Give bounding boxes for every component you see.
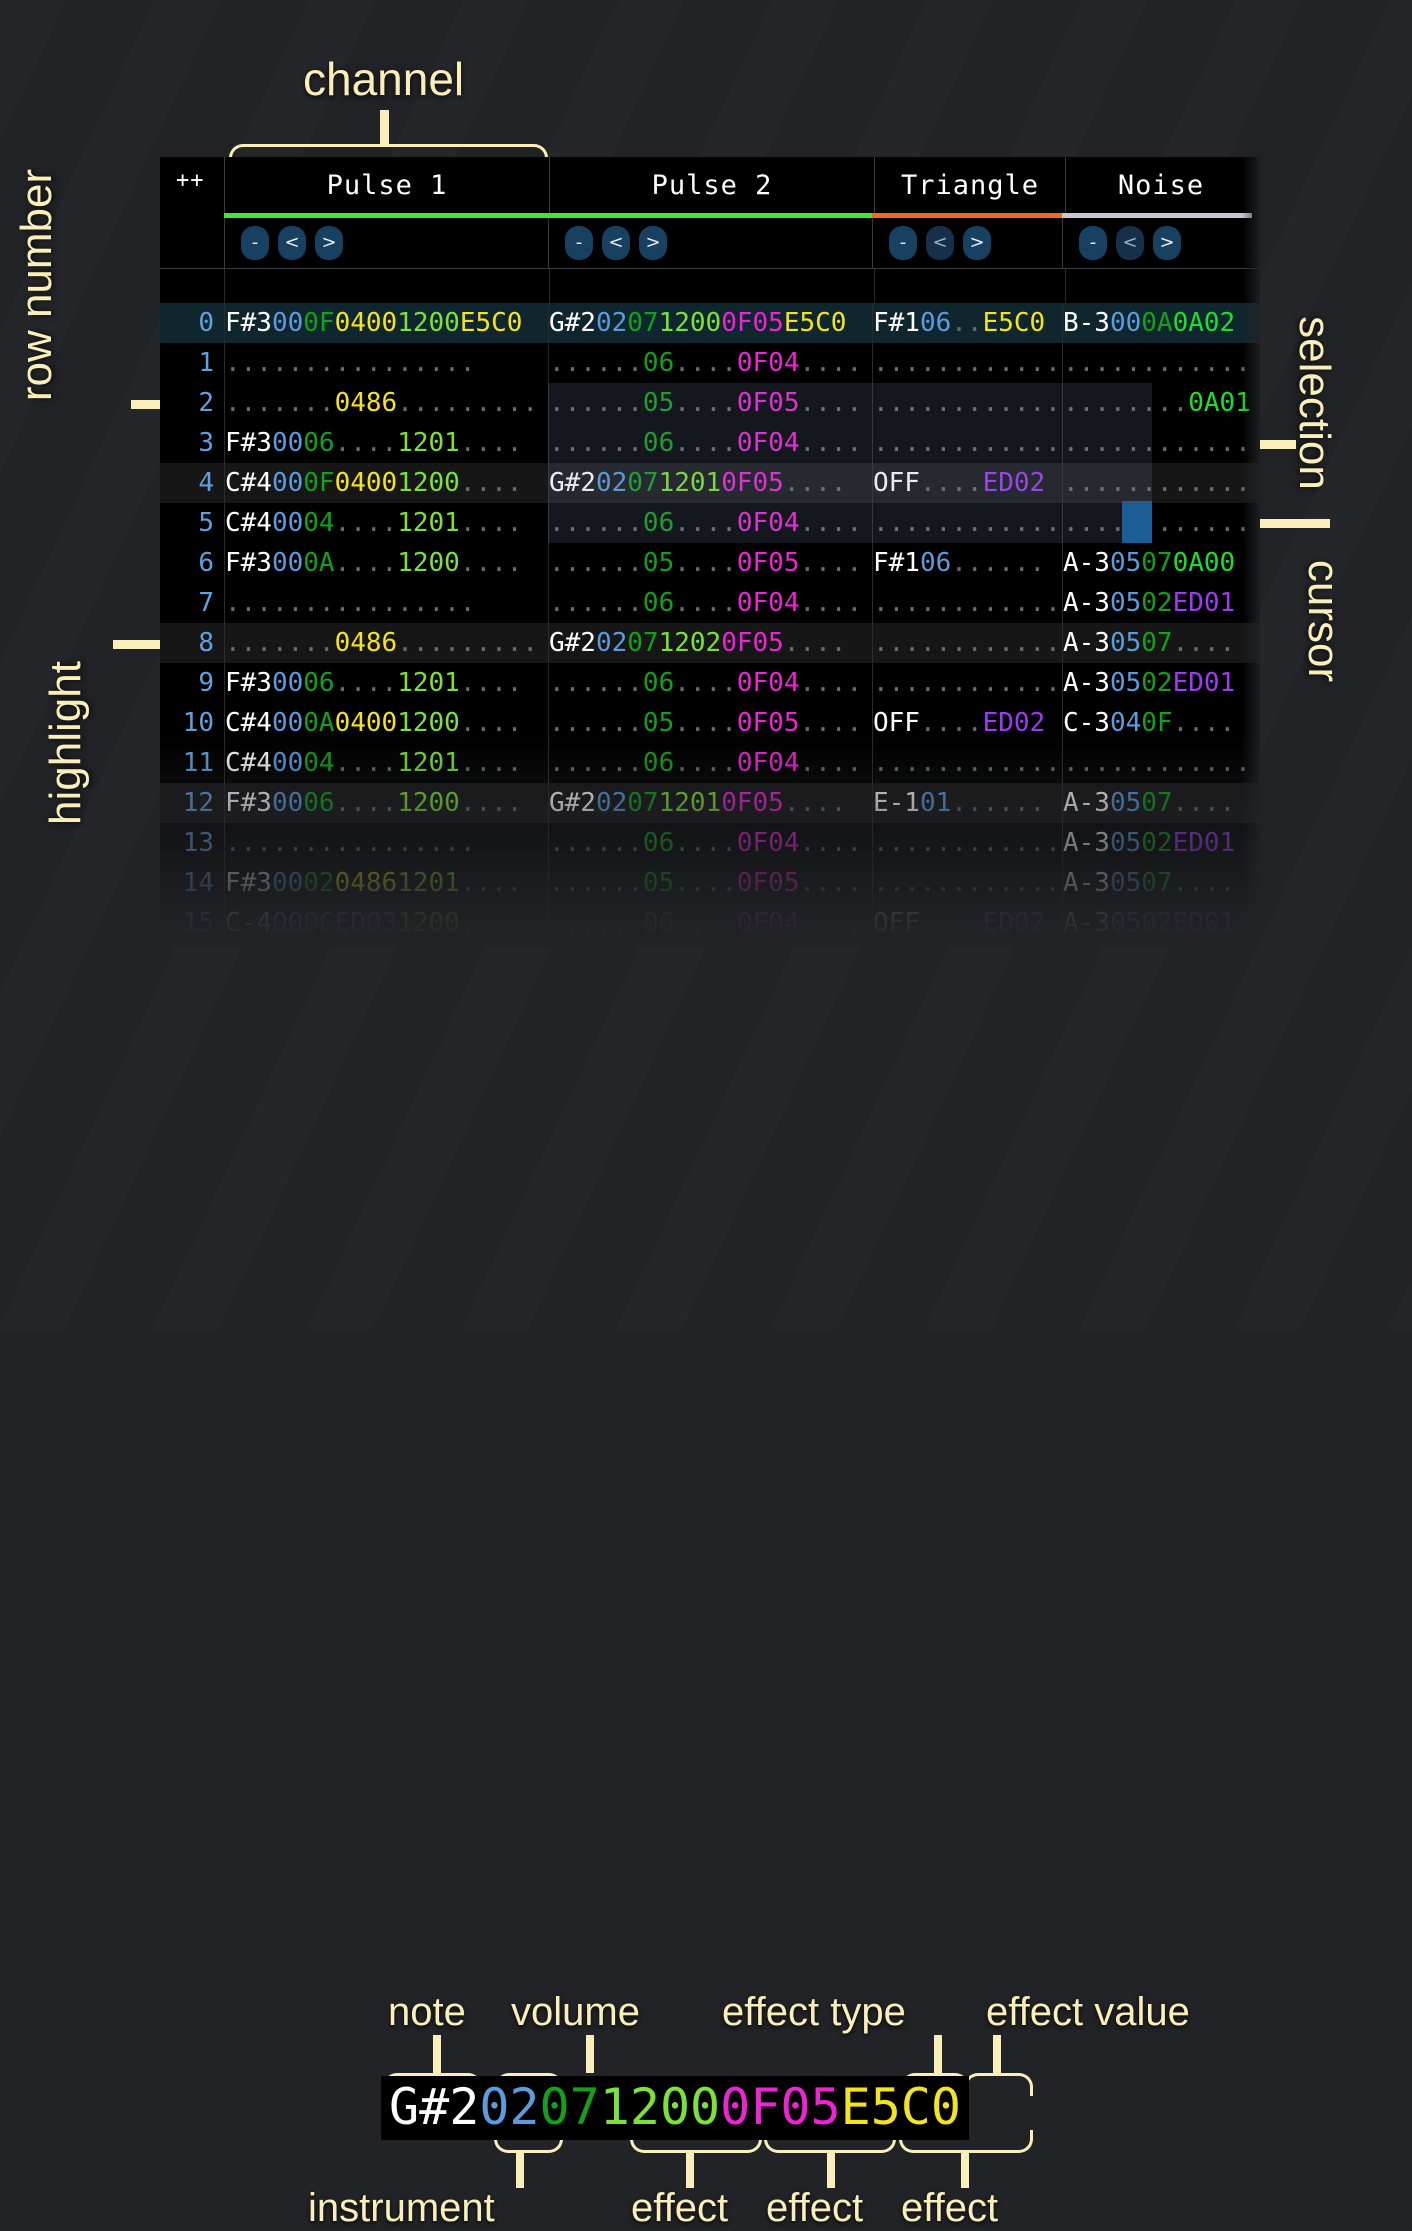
pattern-segment-empty: .... xyxy=(674,708,737,738)
pattern-cell-pulse-1[interactable]: F#30006....1200.... xyxy=(224,783,548,823)
pattern-segment-inst: 00 xyxy=(272,508,303,538)
pattern-cell-pulse-2[interactable]: G#2020712020F05.... xyxy=(548,623,872,663)
row-number: 0 xyxy=(160,308,224,338)
row-number: 12 xyxy=(160,788,224,818)
row-number: 8 xyxy=(160,628,224,658)
pattern-segment-empty: .... xyxy=(460,508,523,538)
pattern-cell-pulse-2[interactable]: ......06....0F04.... xyxy=(548,903,872,943)
pattern-row[interactable]: 13......................06....0F04......… xyxy=(160,823,1260,863)
pattern-cell-pulse-1[interactable]: .......0486......... xyxy=(224,623,548,663)
pattern-cell-pulse-1[interactable]: C#4000A04001200.... xyxy=(224,703,548,743)
pattern-segment-fxm: 0F05 xyxy=(737,708,800,738)
pattern-segment-vol: 02 xyxy=(1141,908,1172,938)
legend-leader-volume xyxy=(586,2035,594,2073)
pattern-segment-empty: ......... xyxy=(397,388,538,418)
legend-segment-fxy: E5C0 xyxy=(841,2078,961,2136)
pattern-cell-pulse-1[interactable]: C#4000F04001200.... xyxy=(224,463,548,503)
pattern-cell-noise[interactable]: A-30502ED01 xyxy=(1062,663,1252,703)
legend-leader-effect-3 xyxy=(961,2150,969,2188)
next-button-pulse-2[interactable]: > xyxy=(639,226,667,260)
pattern-cell-triangle[interactable]: OFF....ED02 xyxy=(872,463,1062,503)
pattern-row[interactable]: 3F#30006....1201..........06....0F04....… xyxy=(160,423,1260,463)
pattern-segment-note: F#3 xyxy=(225,668,272,698)
pattern-segment-empty: ...... xyxy=(549,748,643,778)
pattern-segment-vol: 05 xyxy=(643,708,674,738)
pattern-cell-triangle[interactable]: ............ xyxy=(872,503,1062,543)
pattern-segment-fxg: 1201 xyxy=(397,668,460,698)
pattern-cell-pulse-1[interactable]: C#40004....1201.... xyxy=(224,743,548,783)
pattern-segment-vol: 02 xyxy=(303,868,334,898)
pattern-segment-empty: ...... xyxy=(549,428,643,458)
pattern-cell-noise[interactable]: ............ xyxy=(1062,503,1252,543)
pattern-segment-inst: 00 xyxy=(272,428,303,458)
legend-segment-fxg: 1200 xyxy=(600,2078,720,2136)
pattern-cell-triangle[interactable]: F#106...... xyxy=(872,543,1062,583)
pattern-segment-note: OFF xyxy=(873,908,920,938)
legend-label-effect-2: effect xyxy=(766,2186,863,2231)
pattern-cell-triangle[interactable]: ............ xyxy=(872,423,1062,463)
legend-segment-fxm: 0F05 xyxy=(720,2078,840,2136)
pattern-segment-empty: .... xyxy=(799,548,862,578)
pattern-row[interactable]: 9F#30006....1201..........06....0F04....… xyxy=(160,663,1260,703)
pattern-cell-noise[interactable]: ............ xyxy=(1062,463,1252,503)
pattern-segment-note: F#3 xyxy=(225,428,272,458)
pattern-segment-note: C#4 xyxy=(225,508,272,538)
pattern-segment-empty: .... xyxy=(784,468,847,498)
pattern-segment-empty: ...... xyxy=(549,588,643,618)
prev-button-pulse-2[interactable]: < xyxy=(602,226,630,260)
pattern-cell-pulse-2[interactable]: G#2020712010F05.... xyxy=(548,463,872,503)
pattern-segment-empty: .... xyxy=(784,628,847,658)
pattern-segment-empty: ............ xyxy=(1063,428,1251,458)
pattern-row[interactable]: 2.......0486...............05....0F05...… xyxy=(160,383,1260,423)
pattern-cell-noise[interactable]: ........0A01 xyxy=(1062,383,1252,423)
pattern-segment-fxg: 1200 xyxy=(397,308,460,338)
pattern-cell-pulse-1[interactable]: ................ xyxy=(224,583,548,623)
pattern-segment-fxp: ED01 xyxy=(1173,668,1236,698)
pattern-cell-noise[interactable]: A-305070A00 xyxy=(1062,543,1252,583)
pattern-row[interactable]: 14F#3000204861201..........05....0F05...… xyxy=(160,863,1260,903)
pattern-segment-inst: 02 xyxy=(596,308,627,338)
pattern-segment-empty: ......... xyxy=(397,628,538,658)
pattern-segment-empty: ................ xyxy=(225,348,475,378)
row-number: 11 xyxy=(160,748,224,778)
pattern-segment-empty: .... xyxy=(674,548,737,578)
pattern-segment-vol: 0F xyxy=(1141,708,1172,738)
pattern-segment-vol: 04 xyxy=(303,748,334,778)
pattern-cell-noise[interactable]: A-30507.... xyxy=(1062,863,1252,903)
row-number: 6 xyxy=(160,548,224,578)
pattern-segment-vol: 02 xyxy=(1141,588,1172,618)
pattern-segment-empty: .... xyxy=(460,428,523,458)
row-number: 7 xyxy=(160,588,224,618)
pattern-segment-fxg: 1202 xyxy=(659,628,722,658)
legend-label-effect-type: effect type xyxy=(722,1990,906,2035)
pattern-cell-pulse-2[interactable]: ......05....0F05.... xyxy=(548,703,872,743)
pattern-segment-vol: 06 xyxy=(643,908,674,938)
pattern-segment-vol: 06 xyxy=(643,828,674,858)
pattern-cell-pulse-2[interactable]: ......06....0F04.... xyxy=(548,663,872,703)
pattern-segment-empty: .... xyxy=(799,508,862,538)
pattern-segment-note: A-3 xyxy=(1063,668,1110,698)
pattern-segment-empty: .... xyxy=(335,748,398,778)
pattern-segment-note: A-3 xyxy=(1063,548,1110,578)
legend-leader-instrument xyxy=(516,2150,524,2188)
pattern-segment-note: A-3 xyxy=(1063,588,1110,618)
legend-label-instrument: instrument xyxy=(308,2186,495,2231)
pattern-segment-fxy: 0486 xyxy=(335,628,398,658)
pattern-segment-empty: ............ xyxy=(873,828,1061,858)
pattern-segment-empty: .... xyxy=(460,868,523,898)
pattern-segment-note: A-3 xyxy=(1063,868,1110,898)
pattern-cell-triangle[interactable]: ............ xyxy=(872,583,1062,623)
pattern-segment-vol: 07 xyxy=(627,468,658,498)
channel-header-triangle[interactable]: Triangle xyxy=(874,157,1065,213)
pattern-segment-inst: 05 xyxy=(1110,788,1141,818)
pattern-segment-vol: 02 xyxy=(1141,668,1172,698)
pattern-segment-fxm: 0F04 xyxy=(737,668,800,698)
pattern-segment-empty: .... xyxy=(674,828,737,858)
row-number: 13 xyxy=(160,828,224,858)
legend-segment-inst: 02 xyxy=(479,2078,539,2136)
pattern-segment-inst: 06 xyxy=(920,308,951,338)
pattern-segment-fxy: 0400 xyxy=(335,468,398,498)
pattern-cell-pulse-2[interactable]: ......06....0F04.... xyxy=(548,343,872,383)
pattern-segment-empty: .... xyxy=(674,348,737,378)
pattern-row[interactable]: 11C#40004....1201..........06....0F04...… xyxy=(160,743,1260,783)
pattern-segment-vol: 07 xyxy=(1141,628,1172,658)
pattern-segment-empty: ...... xyxy=(549,828,643,858)
pattern-segment-vol: 05 xyxy=(643,388,674,418)
pattern-segment-empty: .... xyxy=(920,708,983,738)
pattern-segment-fxm: 0F04 xyxy=(737,828,800,858)
pattern-segment-empty: .... xyxy=(335,508,398,538)
legend-label-effect-value: effect value xyxy=(986,1990,1190,2035)
pattern-segment-empty: .... xyxy=(674,588,737,618)
pattern-segment-empty: ...... xyxy=(951,788,1045,818)
mute-button-pulse-1[interactable]: - xyxy=(241,226,269,260)
pattern-segment-fxm: 0F04 xyxy=(737,908,800,938)
pattern-row[interactable]: 12F#30006....1200....G#2020712010F05....… xyxy=(160,783,1260,823)
pattern-row[interactable]: 6F#3000A....1200..........05....0F05....… xyxy=(160,543,1260,583)
channel-header-pulse-2[interactable]: Pulse 2 xyxy=(549,157,874,213)
pattern-cell-triangle[interactable]: OFF....ED02 xyxy=(872,903,1062,943)
spacer-cell-2 xyxy=(549,269,874,303)
pattern-grid[interactable]: 0F#3000F04001200E5C0G#2020712000F05E5C0F… xyxy=(160,303,1260,943)
pattern-segment-empty: .... xyxy=(799,668,862,698)
pattern-segment-fxy: E5C0 xyxy=(784,308,847,338)
pattern-segment-empty: ................ xyxy=(225,588,475,618)
pattern-cell-noise[interactable]: A-30502ED01 xyxy=(1062,823,1252,863)
pattern-segment-vol: 06 xyxy=(303,668,334,698)
pattern-segment-empty: ...... xyxy=(549,668,643,698)
pattern-segment-empty: ................ xyxy=(225,828,475,858)
pattern-cell-triangle[interactable]: F#106..E5C0 xyxy=(872,303,1062,343)
pattern-cell-pulse-1[interactable]: F#3000204861201.... xyxy=(224,863,548,903)
pattern-segment-fxp: ED01 xyxy=(1173,828,1236,858)
pattern-segment-empty: .... xyxy=(799,348,862,378)
legend-leader-effect-type xyxy=(934,2035,942,2073)
pattern-segment-empty: .... xyxy=(335,548,398,578)
pattern-segment-note: OFF xyxy=(873,708,920,738)
pattern-segment-inst: 00 xyxy=(272,748,303,778)
pattern-segment-fxy: E5C0 xyxy=(460,308,523,338)
legend-segment-note: G#2 xyxy=(389,2078,479,2136)
pattern-cell-triangle[interactable]: E-101...... xyxy=(872,783,1062,823)
pattern-cell-triangle[interactable]: ............ xyxy=(872,823,1062,863)
channel-header-noise[interactable]: Noise xyxy=(1065,157,1256,213)
pattern-segment-empty: .... xyxy=(1173,708,1236,738)
spacer-cell-3 xyxy=(874,269,1065,303)
pattern-segment-empty: .... xyxy=(674,868,737,898)
next-button-triangle[interactable]: > xyxy=(963,226,991,260)
pattern-cell-pulse-1[interactable]: C#40004....1201.... xyxy=(224,503,548,543)
prev-button-pulse-1[interactable]: < xyxy=(278,226,306,260)
pattern-segment-empty: .... xyxy=(920,468,983,498)
pattern-segment-fxlg: 0A02 xyxy=(1173,308,1236,338)
prev-button-triangle[interactable]: < xyxy=(926,226,954,260)
pattern-segment-vol: 05 xyxy=(643,548,674,578)
annotation-row-number: row number xyxy=(12,169,62,401)
pattern-segment-inst: 05 xyxy=(1110,588,1141,618)
pattern-segment-note: A-3 xyxy=(1063,908,1110,938)
pattern-segment-inst: 05 xyxy=(1110,628,1141,658)
pattern-cell-pulse-2[interactable]: ......05....0F05.... xyxy=(548,543,872,583)
pattern-cell-noise[interactable]: A-30507.... xyxy=(1062,623,1252,663)
pattern-segment-note: G#2 xyxy=(549,468,596,498)
pattern-segment-fxm: 0F05 xyxy=(737,388,800,418)
annotation-channel: channel xyxy=(303,52,464,106)
pattern-cell-pulse-2[interactable]: ......05....0F05.... xyxy=(548,383,872,423)
pattern-segment-empty: .... xyxy=(460,748,523,778)
pattern-top-spacer xyxy=(160,269,1260,303)
pattern-segment-inst: 00 xyxy=(272,468,303,498)
pattern-segment-note: G#2 xyxy=(549,628,596,658)
pattern-segment-empty: ...... xyxy=(549,348,643,378)
pattern-cell-pulse-1[interactable]: ................ xyxy=(224,343,548,383)
pattern-cell-triangle[interactable]: ............ xyxy=(872,383,1062,423)
pattern-segment-empty: .... xyxy=(460,668,523,698)
pattern-segment-vol: 04 xyxy=(303,508,334,538)
pattern-segment-fxg: 1201 xyxy=(397,508,460,538)
pattern-segment-inst: 00 xyxy=(272,868,303,898)
legend-row-example: G#2020712000F05E5C0 xyxy=(381,2076,969,2140)
legend-leader-note xyxy=(433,2035,441,2073)
pattern-segment-inst: 06 xyxy=(920,548,951,578)
row-number: 10 xyxy=(160,708,224,738)
pattern-segment-empty: .... xyxy=(1173,628,1236,658)
pattern-segment-empty: ............ xyxy=(1063,748,1251,778)
pattern-segment-empty: .... xyxy=(460,548,523,578)
pattern-segment-empty: .... xyxy=(799,908,862,938)
pattern-cell-noise[interactable]: ............ xyxy=(1062,743,1252,783)
pattern-segment-vol: 06 xyxy=(303,788,334,818)
pattern-row[interactable]: 10C#4000A04001200..........05....0F05...… xyxy=(160,703,1260,743)
pattern-segment-fxy: E5C0 xyxy=(983,308,1046,338)
rowcol-header-cell: ++ xyxy=(160,157,224,213)
pattern-segment-fxp: ED02 xyxy=(983,908,1046,938)
pattern-segment-vol: 06 xyxy=(643,588,674,618)
pattern-segment-inst: 02 xyxy=(596,468,627,498)
pattern-cell-noise[interactable]: C-3040F.... xyxy=(1062,703,1252,743)
pattern-cell-triangle[interactable]: ............ xyxy=(872,743,1062,783)
pattern-segment-note: E-1 xyxy=(873,788,920,818)
pattern-segment-fxm: 0F05 xyxy=(737,868,800,898)
legend-label-effect-3: effect xyxy=(901,2186,998,2231)
pattern-cell-pulse-2[interactable]: ......06....0F04.... xyxy=(548,823,872,863)
mute-button-pulse-2[interactable]: - xyxy=(565,226,593,260)
pattern-cell-pulse-2[interactable]: G#2020712000F05E5C0 xyxy=(548,303,872,343)
pattern-segment-note: C#4 xyxy=(225,708,272,738)
pattern-cell-pulse-1[interactable]: F#30006....1201.... xyxy=(224,423,548,463)
pattern-segment-fxp: ED01 xyxy=(1173,908,1236,938)
pattern-segment-inst: 05 xyxy=(1110,828,1141,858)
pattern-cell-pulse-2[interactable]: G#2020712010F05.... xyxy=(548,783,872,823)
pattern-cell-noise[interactable]: A-30502ED01 xyxy=(1062,903,1252,943)
pattern-segment-empty: ............ xyxy=(873,428,1061,458)
pattern-cell-pulse-1[interactable]: .......0486......... xyxy=(224,383,548,423)
channel-header-row: ++ Pulse 1 Pulse 2 Triangle Noise xyxy=(160,157,1260,213)
pattern-segment-note: C#4 xyxy=(225,748,272,778)
pattern-row[interactable]: 15C-4000CED031200..........06....0F04...… xyxy=(160,903,1260,943)
pattern-row[interactable]: 4C#4000F04001200....G#2020712010F05....O… xyxy=(160,463,1260,503)
pattern-cell-triangle[interactable]: ............ xyxy=(872,343,1062,383)
pattern-segment-inst: 05 xyxy=(1110,868,1141,898)
pattern-row[interactable]: 8.......0486.........G#2020712020F05....… xyxy=(160,623,1260,663)
pattern-segment-note: C#4 xyxy=(225,468,272,498)
pattern-segment-fxg: 1200 xyxy=(397,788,460,818)
channel-buttons-noise: - < > xyxy=(1062,218,1252,268)
pattern-segment-fxp: ED01 xyxy=(1173,588,1236,618)
spacer-cell-1 xyxy=(224,269,549,303)
pattern-segment-note: F#3 xyxy=(225,868,272,898)
pattern-row[interactable]: 1......................06....0F04.......… xyxy=(160,343,1260,383)
pattern-row[interactable]: 0F#3000F04001200E5C0G#2020712000F05E5C0F… xyxy=(160,303,1260,343)
pattern-segment-inst: 00 xyxy=(272,788,303,818)
pattern-segment-vol: 07 xyxy=(1141,788,1172,818)
pattern-cell-noise[interactable]: ............ xyxy=(1062,343,1252,383)
pattern-segment-fxm: 0F04 xyxy=(737,428,800,458)
pattern-segment-inst: 04 xyxy=(1110,708,1141,738)
pattern-cell-noise[interactable]: B-3000A0A02 xyxy=(1062,303,1252,343)
pattern-segment-vol: 06 xyxy=(303,428,334,458)
pattern-segment-fxp: ED02 xyxy=(983,708,1046,738)
pattern-segment-empty: .... xyxy=(460,908,523,938)
channel-buttons-triangle: - < > xyxy=(872,218,1062,268)
pattern-cell-pulse-1[interactable]: C-4000CED031200.... xyxy=(224,903,548,943)
pattern-cell-pulse-1[interactable]: F#3000F04001200E5C0 xyxy=(224,303,548,343)
pattern-cell-triangle[interactable]: OFF....ED02 xyxy=(872,703,1062,743)
annotation-highlight: highlight xyxy=(41,661,91,825)
pattern-segment-empty: ............ xyxy=(873,508,1061,538)
pattern-row[interactable]: 5C#40004....1201..........06....0F04....… xyxy=(160,503,1260,543)
pattern-segment-fxy: 0486 xyxy=(335,868,398,898)
channel-buttons-pulse-2: - < > xyxy=(548,218,872,268)
row-number: 2 xyxy=(160,388,224,418)
prev-button-noise[interactable]: < xyxy=(1116,226,1144,260)
pattern-segment-empty: ...... xyxy=(549,868,643,898)
pattern-cell-triangle[interactable]: ............ xyxy=(872,863,1062,903)
row-number: 5 xyxy=(160,508,224,538)
legend-label-volume: volume xyxy=(511,1990,640,2035)
pattern-segment-inst: 02 xyxy=(596,628,627,658)
pattern-segment-fxlg: 0A00 xyxy=(1173,548,1236,578)
next-button-pulse-1[interactable]: > xyxy=(315,226,343,260)
pattern-cell-noise[interactable]: A-30507.... xyxy=(1062,783,1252,823)
pattern-segment-empty: .... xyxy=(674,428,737,458)
row-number: 9 xyxy=(160,668,224,698)
spacer-pad xyxy=(160,269,224,303)
pattern-segment-empty: ...... xyxy=(549,708,643,738)
pattern-segment-fxy: 0400 xyxy=(335,708,398,738)
pattern-segment-note: F#3 xyxy=(225,548,272,578)
pattern-cell-noise[interactable]: ............ xyxy=(1062,423,1252,463)
pattern-segment-empty: .... xyxy=(674,668,737,698)
pattern-segment-inst: 05 xyxy=(1110,668,1141,698)
pattern-segment-fxm: 0F04 xyxy=(737,348,800,378)
pattern-segment-vol: 07 xyxy=(627,308,658,338)
pattern-segment-empty: ...... xyxy=(549,548,643,578)
pattern-cell-pulse-2[interactable]: ......05....0F05.... xyxy=(548,863,872,903)
pattern-cell-pulse-1[interactable]: F#3000A....1200.... xyxy=(224,543,548,583)
pattern-segment-fxg: 1200 xyxy=(397,468,460,498)
pattern-cell-pulse-2[interactable]: ......06....0F04.... xyxy=(548,423,872,463)
increment-indicator: ++ xyxy=(176,168,205,193)
pattern-row[interactable]: 7......................06....0F04.......… xyxy=(160,583,1260,623)
pattern-segment-vol: 06 xyxy=(643,348,674,378)
pattern-segment-vol: 0A xyxy=(1141,308,1172,338)
mute-button-triangle[interactable]: - xyxy=(889,226,917,260)
pattern-cell-pulse-2[interactable]: ......06....0F04.... xyxy=(548,583,872,623)
pattern-segment-fxy: 0400 xyxy=(335,308,398,338)
pattern-segment-note: F#1 xyxy=(873,548,920,578)
pattern-segment-vol: 05 xyxy=(643,868,674,898)
annotation-channel-leader xyxy=(380,110,389,146)
pattern-segment-inst: 02 xyxy=(596,788,627,818)
pattern-segment-empty: ............ xyxy=(1063,508,1251,538)
mute-button-noise[interactable]: - xyxy=(1079,226,1107,260)
pattern-segment-empty: .. xyxy=(951,308,982,338)
pattern-segment-fxg: 1200 xyxy=(397,548,460,578)
pattern-segment-empty: .... xyxy=(799,588,862,618)
pattern-segment-fxm: 0F04 xyxy=(737,508,800,538)
pattern-segment-vol: 0A xyxy=(303,708,334,738)
pattern-segment-empty: ...... xyxy=(549,388,643,418)
tracker-pattern-editor[interactable]: ++ Pulse 1 Pulse 2 Triangle Noise - < > … xyxy=(160,157,1260,947)
channel-buttons-pulse-1: - < > xyxy=(224,218,548,268)
pattern-cell-pulse-1[interactable]: ................ xyxy=(224,823,548,863)
pattern-segment-empty: .... xyxy=(335,788,398,818)
next-button-noise[interactable]: > xyxy=(1153,226,1181,260)
legend-label-effect-1: effect xyxy=(631,2186,728,2231)
row-number: 1 xyxy=(160,348,224,378)
pattern-cell-pulse-2[interactable]: ......06....0F04.... xyxy=(548,743,872,783)
pattern-segment-vol: 0A xyxy=(303,548,334,578)
pattern-segment-empty: ............ xyxy=(873,748,1061,778)
channel-header-pulse-1[interactable]: Pulse 1 xyxy=(224,157,549,213)
pattern-segment-inst: 00 xyxy=(272,668,303,698)
pattern-cell-triangle[interactable]: ............ xyxy=(872,623,1062,663)
pattern-cell-pulse-2[interactable]: ......06....0F04.... xyxy=(548,503,872,543)
pattern-segment-empty: .... xyxy=(460,788,523,818)
spacer-cell-4 xyxy=(1065,269,1256,303)
pattern-cell-triangle[interactable]: ............ xyxy=(872,663,1062,703)
pattern-segment-note: OFF xyxy=(873,468,920,498)
pattern-segment-inst: 00 xyxy=(272,908,303,938)
pattern-cell-noise[interactable]: A-30502ED01 xyxy=(1062,583,1252,623)
pattern-segment-vol: 0F xyxy=(303,468,334,498)
pattern-cell-pulse-1[interactable]: F#30006....1201.... xyxy=(224,663,548,703)
